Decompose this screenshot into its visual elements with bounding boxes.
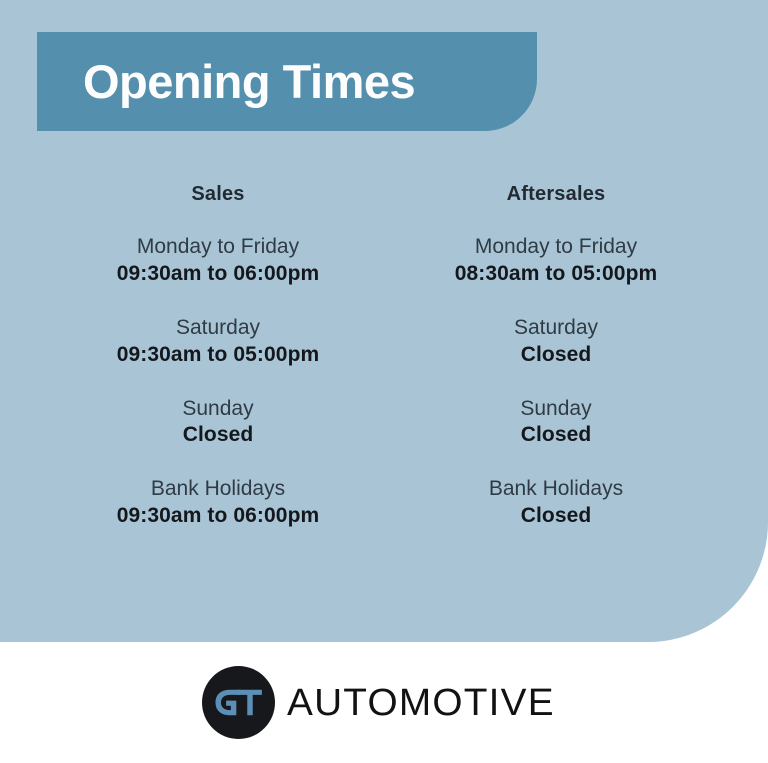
entry-day: Saturday <box>52 315 384 342</box>
opening-times-poster: Opening Times Sales Monday to Friday 09:… <box>0 0 768 763</box>
hours-entry: Monday to Friday 08:30am to 05:00pm <box>384 234 728 288</box>
entry-hours: Closed <box>52 422 384 449</box>
column-sales: Sales Monday to Friday 09:30am to 06:00p… <box>0 182 384 530</box>
hours-entry: Saturday Closed <box>384 315 728 369</box>
title-banner: Opening Times <box>37 32 537 131</box>
hours-entry: Monday to Friday 09:30am to 06:00pm <box>52 234 384 288</box>
entry-hours: 09:30am to 06:00pm <box>52 261 384 288</box>
logo-wordmark: AUTOMOTIVE <box>287 684 555 722</box>
entry-day: Sunday <box>52 396 384 423</box>
page-title: Opening Times <box>83 58 415 105</box>
hours-entry: Sunday Closed <box>52 396 384 450</box>
opening-times-columns: Sales Monday to Friday 09:30am to 06:00p… <box>0 182 768 530</box>
hours-entry: Bank Holidays Closed <box>384 476 728 530</box>
entry-hours: 09:30am to 05:00pm <box>52 342 384 369</box>
entry-hours: Closed <box>384 503 728 530</box>
entry-hours: 09:30am to 06:00pm <box>52 503 384 530</box>
entry-day: Monday to Friday <box>52 234 384 261</box>
entry-day: Saturday <box>384 315 728 342</box>
entry-hours: 08:30am to 05:00pm <box>384 261 728 288</box>
gt-automotive-logo: AUTOMOTIVE <box>202 666 550 739</box>
hours-entry: Sunday Closed <box>384 396 728 450</box>
entry-day: Monday to Friday <box>384 234 728 261</box>
entry-day: Bank Holidays <box>384 476 728 503</box>
entry-day: Sunday <box>384 396 728 423</box>
entry-hours: Closed <box>384 342 728 369</box>
entry-hours: Closed <box>384 422 728 449</box>
gt-circle-logo-icon <box>202 666 275 739</box>
entry-day: Bank Holidays <box>52 476 384 503</box>
column-heading-sales: Sales <box>52 182 384 206</box>
hours-entry: Saturday 09:30am to 05:00pm <box>52 315 384 369</box>
column-heading-aftersales: Aftersales <box>384 182 728 206</box>
footer-bar: AUTOMOTIVE <box>0 642 768 763</box>
column-aftersales: Aftersales Monday to Friday 08:30am to 0… <box>384 182 768 530</box>
hours-entry: Bank Holidays 09:30am to 06:00pm <box>52 476 384 530</box>
